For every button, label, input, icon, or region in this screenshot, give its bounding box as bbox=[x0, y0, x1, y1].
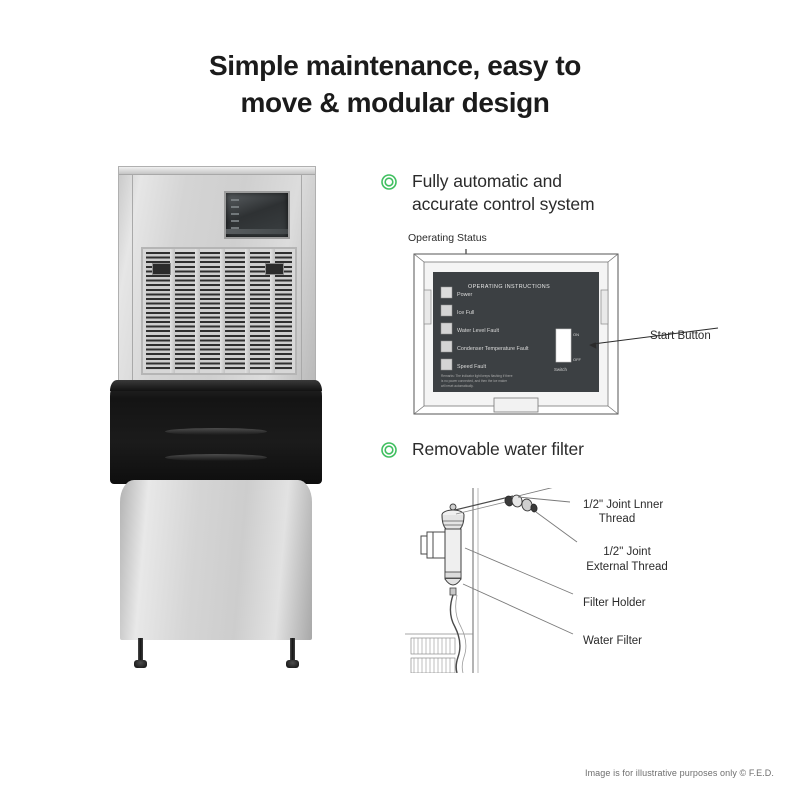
grille-badge-left bbox=[152, 263, 171, 275]
callout-leader-water-filter bbox=[463, 584, 573, 634]
feature-title: Removable water filter bbox=[412, 438, 584, 461]
power-indicator-icon bbox=[441, 287, 452, 298]
feature-title-line-1: Removable water filter bbox=[412, 438, 584, 461]
green-ring-icon bbox=[380, 173, 398, 196]
storage-bin-body bbox=[120, 480, 312, 640]
feature-heading-row: Fully automatic and accurate control sys… bbox=[380, 170, 680, 217]
switch-off-label: OFF bbox=[573, 357, 582, 362]
panel-fineprint-line-3: will reset automatically. bbox=[441, 384, 474, 388]
switch-on-label: ON bbox=[573, 332, 579, 337]
water-filter-diagram: 1/2" Joint Lnner Thread 1/2" Joint Exter… bbox=[405, 488, 735, 673]
callout-leader-joint-inner bbox=[518, 488, 575, 496]
grille-post bbox=[245, 249, 250, 373]
page-title: Simple maintenance, easy to move & modul… bbox=[0, 48, 790, 122]
grille-post bbox=[195, 249, 200, 373]
control-panel-diagram: Operating Status OPERATING INSTRUCTIONS … bbox=[400, 228, 730, 423]
callout-label-joint-inner-line-1: 1/2" Joint Lnner bbox=[583, 499, 663, 511]
water-filter-cartridge bbox=[442, 504, 464, 595]
panel-fineprint-line-1: Remarks: The indicator light keeps flash… bbox=[441, 374, 513, 378]
callout-label-joint-external-line-2: External Thread bbox=[586, 561, 668, 573]
grille-badge-right bbox=[265, 263, 284, 275]
callout-operating-status-label: Operating Status bbox=[408, 232, 487, 244]
bezel-tab-right bbox=[601, 290, 608, 324]
feature-title: Fully automatic and accurate control sys… bbox=[412, 170, 595, 217]
leg-foot bbox=[134, 660, 147, 668]
panel-heading: OPERATING INSTRUCTIONS bbox=[468, 284, 550, 290]
grille-post bbox=[220, 249, 225, 373]
panel-row-label: Power bbox=[457, 292, 472, 298]
feature-title-line-2: accurate control system bbox=[412, 193, 595, 216]
joint-fittings bbox=[504, 494, 538, 513]
leg-shaft bbox=[138, 638, 143, 660]
callout-label-joint-external-line-1: 1/2" Joint bbox=[603, 546, 651, 558]
evaporator-grid bbox=[411, 638, 455, 673]
footer-disclaimer: Image is for illustrative purposes only … bbox=[585, 768, 774, 778]
bezel-bottom-tab bbox=[494, 398, 538, 412]
machine-left-seam bbox=[132, 174, 133, 383]
bin-leg-right bbox=[286, 638, 299, 668]
panel-fineprint-line-2: is no power connected, and then the ice … bbox=[441, 379, 508, 383]
panel-row-label: Ice Full bbox=[457, 310, 474, 316]
callout-label-joint-inner-line-2: Thread bbox=[599, 513, 635, 525]
machine-right-seam bbox=[301, 174, 302, 383]
condenser-temperature-fault-icon bbox=[441, 341, 452, 352]
bin-door-crease bbox=[165, 428, 267, 435]
green-ring-icon bbox=[380, 441, 398, 464]
bin-door-crease bbox=[165, 454, 267, 461]
page-title-line-1: Simple maintenance, easy to bbox=[0, 48, 790, 85]
leg-shaft bbox=[290, 638, 295, 660]
page-title-line-2: move & modular design bbox=[0, 85, 790, 122]
callout-label-filter-holder: Filter Holder bbox=[583, 597, 646, 609]
panel-row-label: Speed Fault bbox=[457, 364, 487, 370]
feature-title-line-1: Fully automatic and bbox=[412, 170, 595, 193]
water-level-fault-icon bbox=[441, 323, 452, 334]
storage-bin-door bbox=[110, 380, 322, 484]
callout-label-water-filter: Water Filter bbox=[583, 635, 642, 647]
product-image bbox=[110, 166, 322, 690]
ice-full-indicator-icon bbox=[441, 305, 452, 316]
ventilation-grille bbox=[141, 247, 297, 375]
callout-leader-joint-external bbox=[536, 512, 577, 542]
start-button-switch[interactable] bbox=[556, 329, 571, 362]
panel-row-label: Condenser Temperature Fault bbox=[457, 346, 529, 352]
machine-top-cap bbox=[119, 167, 315, 175]
inlet-pipe bbox=[455, 496, 513, 510]
switch-caption: Switch bbox=[554, 367, 567, 372]
machine-control-display bbox=[224, 191, 290, 239]
bezel-tab-left bbox=[424, 290, 431, 324]
bin-leg-left bbox=[134, 638, 147, 668]
feature-water-filter: Removable water filter bbox=[380, 438, 680, 464]
ice-machine-head bbox=[118, 166, 316, 384]
leg-foot bbox=[286, 660, 299, 668]
feature-control-system: Fully automatic and accurate control sys… bbox=[380, 170, 680, 217]
speed-fault-icon bbox=[441, 359, 452, 370]
callout-start-button-label: Start Button bbox=[650, 330, 711, 342]
callout-leader-filter-holder bbox=[465, 548, 573, 594]
feature-heading-row: Removable water filter bbox=[380, 438, 680, 464]
panel-row-label: Water Level Fault bbox=[457, 328, 500, 334]
